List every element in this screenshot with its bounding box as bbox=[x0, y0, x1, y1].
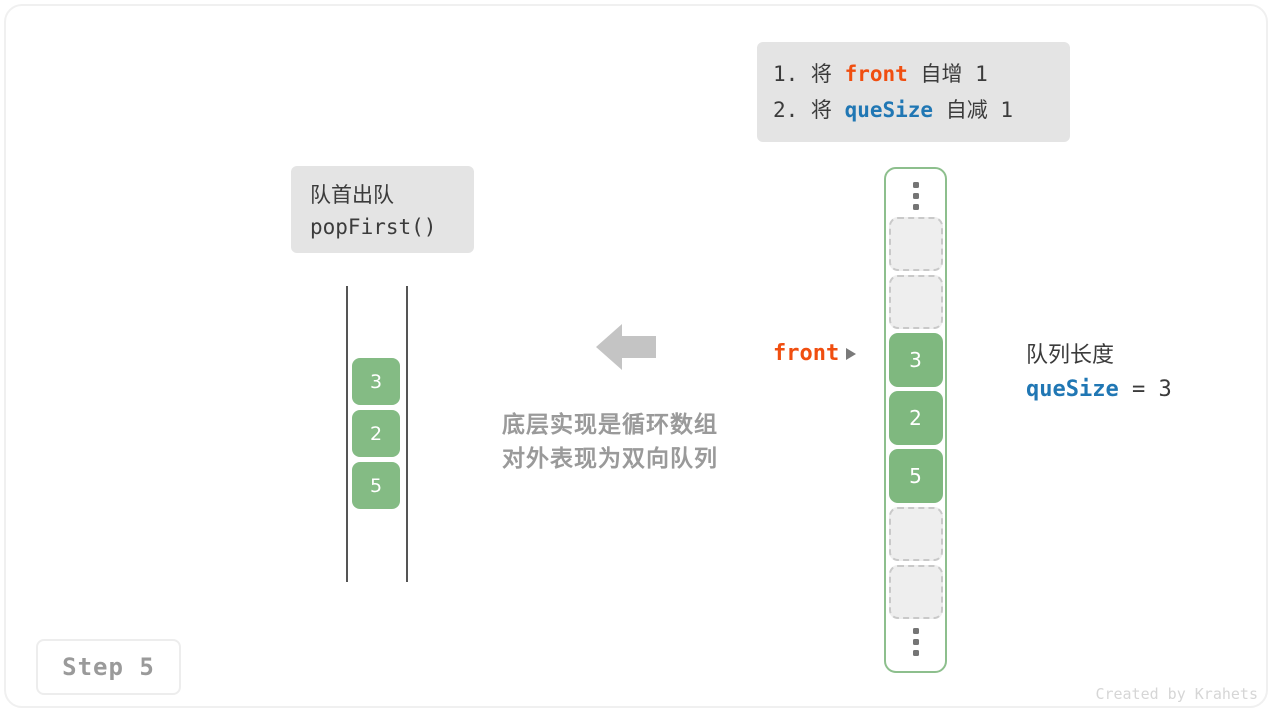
caption-method: popFirst() bbox=[310, 211, 474, 243]
note-line-1: 1. 将 front 自增 1 bbox=[773, 56, 1070, 92]
operation-note-box: 1. 将 front 自增 1 2. 将 queSize 自减 1 bbox=[757, 42, 1070, 142]
note-line-2-keyword: queSize bbox=[845, 98, 934, 122]
array-cell-empty bbox=[889, 507, 943, 561]
explanation-line-2: 对外表现为双向队列 bbox=[502, 442, 752, 476]
array-cell-filled: 5 bbox=[889, 449, 943, 503]
logical-cell: 2 bbox=[352, 410, 400, 457]
array-cell-filled: 3 bbox=[889, 333, 943, 387]
queue-size-title: 队列长度 bbox=[1026, 340, 1172, 372]
logical-cell: 5 bbox=[352, 462, 400, 509]
note-line-2-prefix: 2. 将 bbox=[773, 98, 845, 122]
explanation-text: 底层实现是循环数组 对外表现为双向队列 bbox=[502, 408, 752, 476]
logical-deque-view: 3 2 5 bbox=[346, 286, 408, 582]
queue-size-var: queSize bbox=[1026, 377, 1119, 402]
array-cell-filled: 2 bbox=[889, 391, 943, 445]
left-arrow-icon bbox=[596, 322, 656, 372]
note-line-1-prefix: 1. 将 bbox=[773, 62, 845, 86]
credit-text: Created by Krahets bbox=[1095, 685, 1258, 703]
note-line-1-keyword: front bbox=[845, 62, 908, 86]
front-pointer-label: front bbox=[773, 341, 839, 366]
logical-cell-list: 3 2 5 bbox=[352, 358, 400, 514]
operation-caption-box: 队首出队 popFirst() bbox=[291, 166, 474, 253]
left-rail bbox=[346, 286, 348, 582]
circular-array-container: 3 2 5 bbox=[884, 167, 947, 673]
vertical-ellipsis-icon bbox=[912, 182, 919, 210]
queue-size-expression: queSize = 3 bbox=[1026, 372, 1172, 408]
array-cell-empty bbox=[889, 275, 943, 329]
array-cell-empty bbox=[889, 217, 943, 271]
queue-size-value: 3 bbox=[1158, 377, 1171, 402]
step-badge: Step 5 bbox=[36, 639, 181, 695]
note-line-1-suffix: 自增 1 bbox=[908, 62, 988, 86]
right-rail bbox=[406, 286, 408, 582]
queue-size-annotation: 队列长度 queSize = 3 bbox=[1026, 340, 1172, 408]
logical-cell: 3 bbox=[352, 358, 400, 405]
caret-right-icon bbox=[846, 348, 856, 360]
note-line-2: 2. 将 queSize 自减 1 bbox=[773, 92, 1070, 128]
array-cell-empty bbox=[889, 565, 943, 619]
note-line-2-suffix: 自减 1 bbox=[933, 98, 1013, 122]
step-badge-label: Step 5 bbox=[62, 653, 155, 681]
caption-title: 队首出队 bbox=[310, 179, 474, 211]
explanation-line-1: 底层实现是循环数组 bbox=[502, 408, 752, 442]
vertical-ellipsis-icon bbox=[912, 628, 919, 656]
front-pointer: front bbox=[773, 341, 856, 366]
queue-size-equals: = bbox=[1119, 377, 1159, 402]
diagram-canvas: 1. 将 front 自增 1 2. 将 queSize 自减 1 队首出队 p… bbox=[0, 0, 1280, 720]
